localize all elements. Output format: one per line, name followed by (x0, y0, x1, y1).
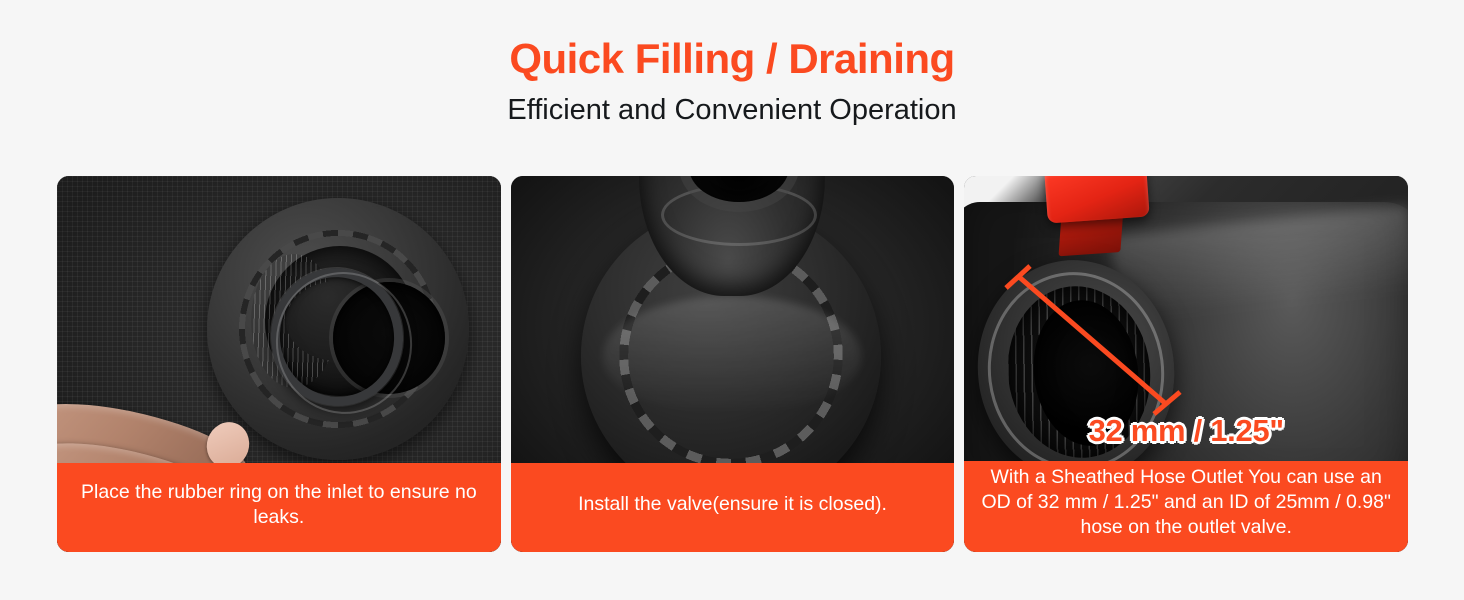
page-title: Quick Filling / Draining (0, 36, 1464, 81)
header: Quick Filling / Draining Efficient and C… (0, 0, 1464, 127)
panel-inlet-rubber-ring: Place the rubber ring on the inlet to en… (57, 176, 501, 552)
panel-install-valve: Install the valve(ensure it is closed). (511, 176, 955, 552)
panel-caption: Install the valve(ensure it is closed). (511, 463, 955, 552)
feature-panel-row: Place the rubber ring on the inlet to en… (57, 176, 1408, 552)
collar-highlight (603, 296, 861, 416)
page-subtitle: Efficient and Convenient Operation (0, 95, 1464, 127)
panel-caption: With a Sheathed Hose Outlet You can use … (964, 461, 1408, 552)
dimension-label: 32 mm / 1.25" (964, 413, 1408, 449)
panel-hose-outlet-dimensions: 32 mm / 1.25" With a Sheathed Hose Outle… (964, 176, 1408, 552)
red-valve-handle (1045, 176, 1150, 223)
panel-caption: Place the rubber ring on the inlet to en… (57, 463, 501, 552)
